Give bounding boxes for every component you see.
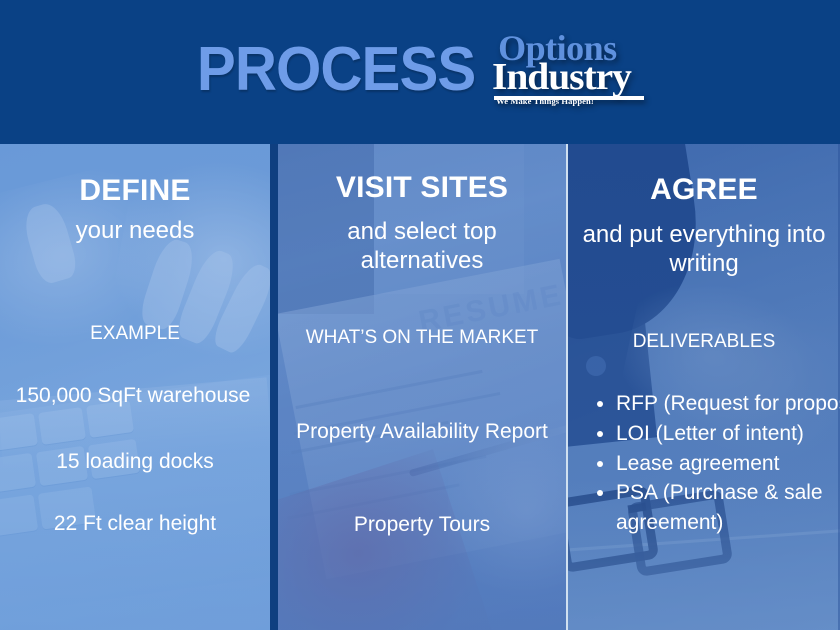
visit-sites-title: VISIT SITES	[278, 172, 566, 204]
agree-bullet-1: RFP (Request for proposal)	[616, 389, 840, 419]
page-title: PROCESS	[197, 39, 475, 101]
visit-sites-item-1: Property Availability Report	[288, 419, 556, 445]
list-item: LOI (Letter of intent)	[616, 419, 840, 449]
agree-label: DELIVERABLES	[568, 330, 840, 354]
agree-subtitle: and put everything into writing	[570, 220, 838, 279]
process-slide: PROCESS Options Industry We Make Things …	[0, 0, 840, 630]
process-step-agree: AGREE and put everything into writing DE…	[568, 144, 840, 630]
define-item-1: 150,000 SqFt warehouse	[0, 383, 268, 409]
logo-industry-text: Industry	[492, 58, 631, 96]
agree-title: AGREE	[568, 174, 840, 206]
define-content: DEFINE your needs EXAMPLE 150,000 SqFt w…	[0, 144, 270, 630]
list-item: PSA (Purchase & sale agreement)	[616, 478, 840, 538]
define-subtitle: your needs	[0, 216, 270, 245]
define-item-2: 15 loading docks	[0, 449, 270, 475]
visit-sites-item-2: Property Tours	[288, 512, 556, 538]
process-step-define: DEFINE your needs EXAMPLE 150,000 SqFt w…	[0, 144, 270, 630]
column-divider-left	[270, 144, 278, 630]
define-item-3: 22 Ft clear height	[0, 511, 270, 537]
agree-bullet-4: PSA (Purchase & sale agreement)	[616, 481, 823, 534]
define-label: EXAMPLE	[0, 322, 270, 346]
agree-bullet-3: Lease agreement	[616, 452, 779, 475]
process-columns: DEFINE your needs EXAMPLE 150,000 SqFt w…	[0, 144, 840, 630]
agree-deliverables-list: RFP (Request for proposal) LOI (Letter o…	[592, 389, 840, 538]
define-title: DEFINE	[0, 175, 270, 207]
list-item: Lease agreement	[616, 449, 840, 479]
visit-sites-label: WHAT’S ON THE MARKET	[292, 326, 552, 350]
visit-sites-content: VISIT SITES and select top alternatives …	[278, 144, 566, 630]
agree-content: AGREE and put everything into writing DE…	[568, 144, 840, 630]
agree-bullet-2: LOI (Letter of intent)	[616, 422, 804, 445]
list-item: RFP (Request for proposal)	[616, 389, 840, 419]
process-step-visit-sites: RESUME VISIT SITES and select top altern…	[278, 144, 566, 630]
logo-tagline-text: We Make Things Happen!	[496, 97, 594, 106]
slide-header: PROCESS Options Industry We Make Things …	[0, 0, 840, 144]
column-divider-right	[566, 144, 568, 630]
options-industry-logo: Options Industry We Make Things Happen!	[492, 30, 652, 112]
visit-sites-subtitle: and select top alternatives	[292, 217, 552, 276]
